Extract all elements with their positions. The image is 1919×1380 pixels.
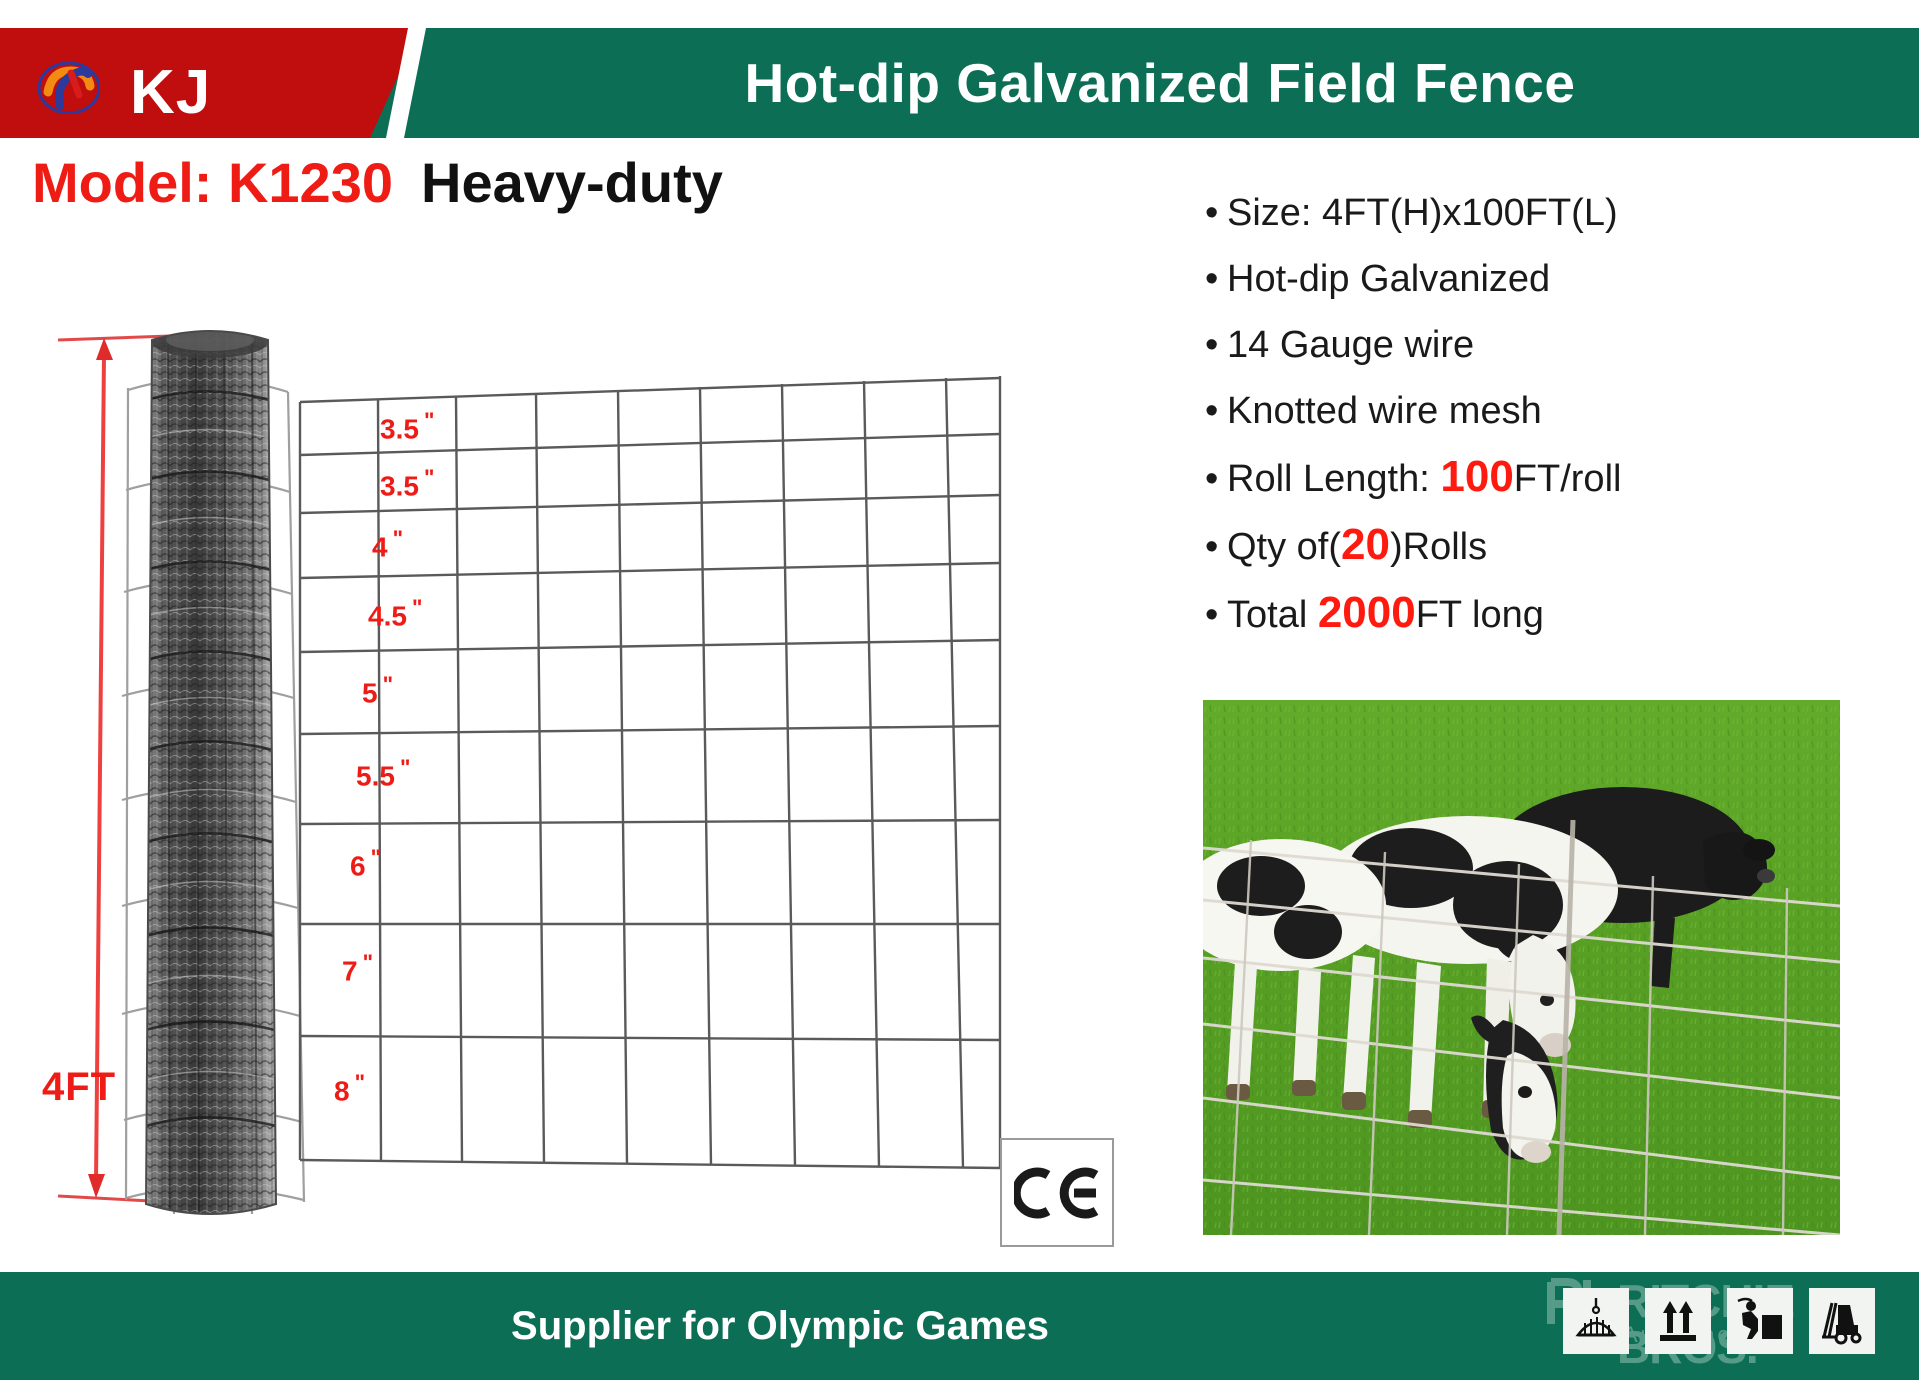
- fence-diagram: 4FT 3.5"3.5"4"4.5"5"5.5"6"7"8": [0, 330, 1100, 1240]
- bullet-icon: •: [1205, 322, 1227, 368]
- handling-pictograms: [1563, 1288, 1875, 1354]
- mesh-spacing-label: 7": [342, 950, 373, 987]
- spec-highlight-value: 100: [1440, 452, 1513, 501]
- page-title: Hot-dip Galvanized Field Fence: [420, 28, 1900, 138]
- mesh-spacing-label: 5.5": [356, 755, 410, 792]
- this-way-up-icon: [1645, 1288, 1711, 1354]
- mesh-spacing-value: 3.5: [380, 413, 419, 444]
- spec-item-label: Hot-dip Galvanized: [1227, 256, 1550, 302]
- spec-text-part: Size: 4FT(H)x100FT(L): [1227, 192, 1618, 234]
- model-grade: Heavy-duty: [421, 151, 723, 214]
- fence-diagram-svg: [0, 330, 1100, 1240]
- spec-highlight-value: 2000: [1318, 588, 1416, 637]
- spec-item-label: 14 Gauge wire: [1227, 322, 1474, 368]
- spec-text-part: Total: [1227, 594, 1318, 636]
- spec-text-part: )Rolls: [1390, 526, 1487, 568]
- specification-list: •Size: 4FT(H)x100FT(L)•Hot-dip Galvanize…: [1205, 190, 1905, 658]
- mesh-spacing-value: 4: [372, 531, 388, 562]
- forklift-icon: [1809, 1288, 1875, 1354]
- mesh-spacing-label: 8": [334, 1070, 365, 1107]
- mesh-spacing-value: 4.5: [368, 600, 407, 631]
- mesh-spacing-unit: ": [383, 672, 393, 697]
- bullet-icon: •: [1205, 388, 1227, 434]
- spec-item: •Total 2000FT long: [1205, 590, 1905, 638]
- mesh-spacing-unit: ": [412, 595, 422, 620]
- footer-tagline: Supplier for Olympic Games: [0, 1272, 1560, 1380]
- bullet-icon: •: [1205, 256, 1227, 302]
- product-spec-sheet: KJ Hot-dip Galvanized Field Fence Model:…: [0, 0, 1919, 1380]
- spec-item: •14 Gauge wire: [1205, 322, 1905, 368]
- mesh-spacing-label: 6": [350, 845, 381, 882]
- mesh-spacing-label: 3.5": [380, 408, 434, 445]
- spec-text-part: FT long: [1416, 594, 1544, 636]
- mesh-spacing-label: 3.5": [380, 465, 434, 502]
- model-line: Model: K1230Heavy-duty: [32, 150, 723, 215]
- mesh-spacing-label: 4": [372, 526, 403, 563]
- spec-item: •Knotted wire mesh: [1205, 388, 1905, 434]
- kj-swoosh-logo-icon: [38, 62, 100, 114]
- mesh-spacing-label: 5": [362, 672, 393, 709]
- spec-text-part: 14 Gauge wire: [1227, 324, 1474, 366]
- bullet-icon: •: [1205, 190, 1227, 236]
- spec-text-part: Qty of(: [1227, 526, 1341, 568]
- container-lift-icon: [1563, 1288, 1629, 1354]
- no-leaning-icon: [1727, 1288, 1793, 1354]
- mesh-spacing-value: 5.5: [356, 760, 395, 791]
- mesh-spacing-unit: ": [363, 950, 373, 975]
- product-application-photo: [1203, 700, 1840, 1235]
- bullet-icon: •: [1205, 456, 1227, 502]
- mesh-spacing-value: 5: [362, 677, 378, 708]
- spec-item-label: Size: 4FT(H)x100FT(L): [1227, 190, 1618, 236]
- mesh-spacing-value: 6: [350, 850, 366, 881]
- mesh-spacing-unit: ": [424, 408, 434, 433]
- mesh-spacing-unit: ": [371, 845, 381, 870]
- header-banner: KJ Hot-dip Galvanized Field Fence: [0, 28, 1919, 138]
- mesh-spacing-unit: ": [355, 1070, 365, 1095]
- mesh-spacing-unit: ": [400, 755, 410, 780]
- mesh-spacing-value: 3.5: [380, 470, 419, 501]
- mesh-spacing-unit: ": [393, 526, 403, 551]
- mesh-spacing-label: 4.5": [368, 595, 422, 632]
- ce-mark: [1000, 1138, 1114, 1247]
- spec-text-part: FT/roll: [1514, 458, 1622, 500]
- spec-text-part: Knotted wire mesh: [1227, 390, 1542, 432]
- mesh-spacing-value: 7: [342, 955, 358, 986]
- bullet-icon: •: [1205, 592, 1227, 638]
- spec-item-label: Qty of(20)Rolls: [1227, 522, 1487, 570]
- spec-highlight-value: 20: [1341, 520, 1390, 569]
- cows-in-field-illustration: [1203, 700, 1840, 1235]
- spec-item-label: Roll Length: 100FT/roll: [1227, 454, 1621, 502]
- spec-item-label: Knotted wire mesh: [1227, 388, 1542, 434]
- spec-text-part: Hot-dip Galvanized: [1227, 258, 1550, 300]
- spec-item-label: Total 2000FT long: [1227, 590, 1544, 638]
- spec-text-part: Roll Length:: [1227, 458, 1440, 500]
- ce-logo-icon: [1014, 1165, 1100, 1221]
- spec-item: •Hot-dip Galvanized: [1205, 256, 1905, 302]
- mesh-spacing-unit: ": [424, 465, 434, 490]
- model-number: Model: K1230: [32, 151, 393, 214]
- fence-height-label: 4FT: [42, 1065, 116, 1110]
- spec-item: •Size: 4FT(H)x100FT(L): [1205, 190, 1905, 236]
- bullet-icon: •: [1205, 524, 1227, 570]
- mesh-spacing-value: 8: [334, 1075, 350, 1106]
- brand-name: KJ: [130, 62, 211, 124]
- spec-item: •Roll Length: 100FT/roll: [1205, 454, 1905, 502]
- spec-item: •Qty of(20)Rolls: [1205, 522, 1905, 570]
